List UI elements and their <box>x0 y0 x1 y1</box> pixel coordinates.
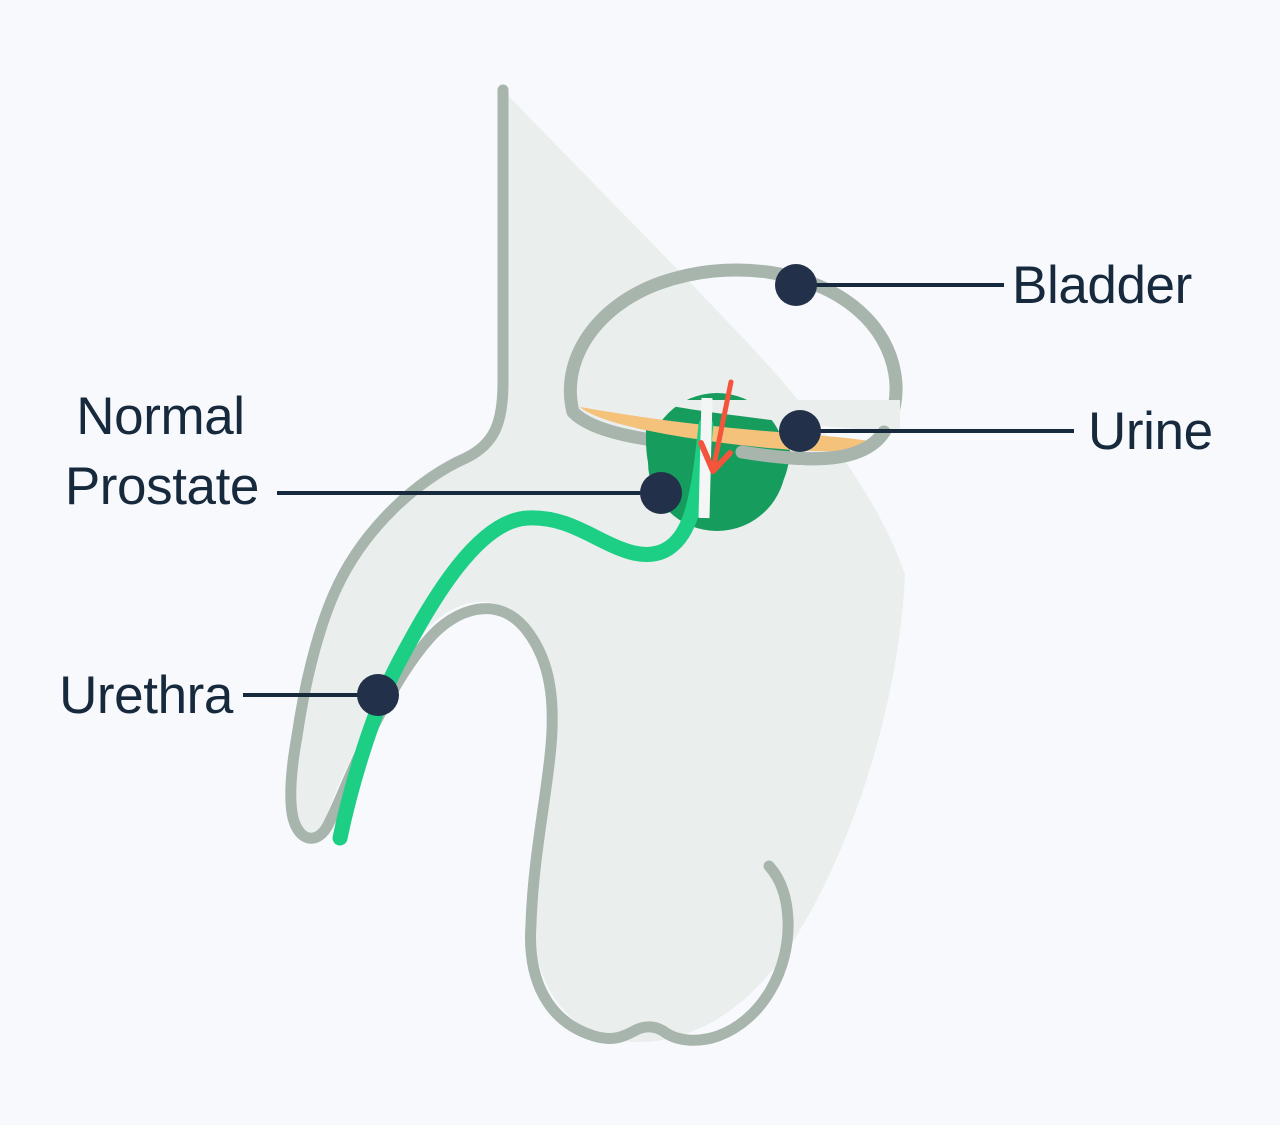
urine-leader-dot[interactable] <box>779 410 821 452</box>
annotation-bladder[interactable]: Bladder <box>775 256 1192 315</box>
urine-label: Urine <box>1088 402 1213 461</box>
bladder-leader-dot[interactable] <box>775 264 817 306</box>
urethra-leader-dot[interactable] <box>357 674 399 716</box>
prostate-anatomy-diagram: Bladder Urine Normal Prostate Urethra <box>0 0 1280 1125</box>
diagram-canvas: Bladder Urine Normal Prostate Urethra <box>0 0 1280 1125</box>
body-group <box>287 90 905 1042</box>
normal-prostate-leader-dot[interactable] <box>640 472 682 514</box>
normal-prostate-label-line2: Prostate <box>65 457 259 516</box>
bladder-label: Bladder <box>1012 256 1192 315</box>
urethra-label: Urethra <box>59 666 234 725</box>
body-silhouette-fill <box>287 90 905 1042</box>
normal-prostate-label-line1: Normal <box>76 387 244 446</box>
normal-prostate-label: Normal Prostate <box>65 387 259 516</box>
